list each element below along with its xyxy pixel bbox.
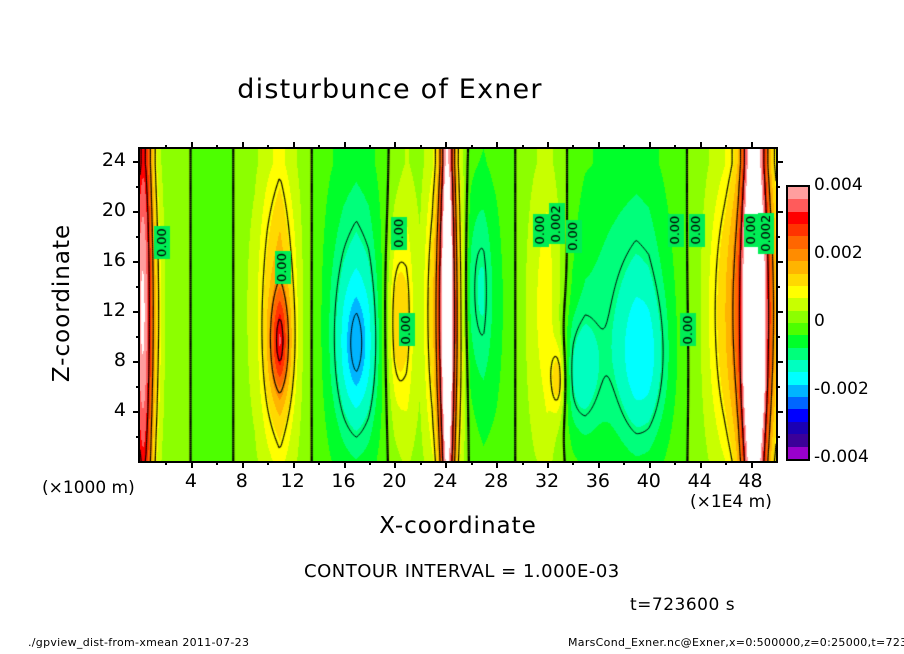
x-tick-top-18 <box>369 145 371 149</box>
y-tick-right-12 <box>776 311 783 313</box>
y-tick-right-10 <box>776 336 780 338</box>
y-tick-label-24: 24 <box>78 149 126 171</box>
y-tick-left-22 <box>136 186 140 188</box>
colorbar-band-19 <box>788 422 808 434</box>
contour-plot-area <box>138 147 778 463</box>
x-tick-bottom-24 <box>445 461 447 468</box>
y-tick-left-6 <box>136 386 140 388</box>
x-tick-bottom-40 <box>649 461 651 468</box>
y-axis-title: Z-coordinate <box>49 203 75 403</box>
y-axis-unit-label: (×1000 m) <box>42 478 135 498</box>
colorbar-band-12 <box>788 335 808 347</box>
colorbar-band-17 <box>788 397 808 409</box>
y-tick-right-18 <box>776 236 780 238</box>
x-tick-top-36 <box>598 142 600 149</box>
y-tick-left-4 <box>133 411 140 413</box>
x-tick-label-48: 48 <box>721 470 781 492</box>
y-tick-left-10 <box>136 336 140 338</box>
x-tick-top-46 <box>725 145 727 149</box>
contour-interval-caption: CONTOUR INTERVAL = 1.000E-03 <box>304 561 620 582</box>
x-tick-bottom-28 <box>496 461 498 468</box>
colorbar-band-5 <box>788 249 808 261</box>
page-title: disturbunce of Exner <box>0 74 780 105</box>
x-tick-top-10 <box>267 145 269 149</box>
y-tick-right-4 <box>776 411 783 413</box>
x-tick-bottom-6 <box>216 461 218 465</box>
x-tick-bottom-18 <box>369 461 371 465</box>
colorbar-tick--0.002: -0.002 <box>814 379 869 399</box>
y-tick-right-20 <box>776 211 783 213</box>
x-tick-bottom-16 <box>344 461 346 468</box>
y-tick-right-8 <box>776 361 783 363</box>
x-tick-bottom-38 <box>623 461 625 465</box>
x-tick-bottom-10 <box>267 461 269 465</box>
y-tick-left-20 <box>133 211 140 213</box>
x-tick-bottom-48 <box>751 461 753 468</box>
x-tick-bottom-46 <box>725 461 727 465</box>
x-tick-bottom-26 <box>471 461 473 465</box>
y-tick-label-12: 12 <box>78 299 126 321</box>
y-tick-left-2 <box>136 436 140 438</box>
time-stamp-caption: t=723600 s <box>630 595 735 615</box>
colorbar-tick-0: 0 <box>814 311 825 331</box>
y-tick-right-22 <box>776 186 780 188</box>
y-tick-label-4: 4 <box>78 399 126 421</box>
x-tick-top-34 <box>572 145 574 149</box>
x-tick-bottom-34 <box>572 461 574 465</box>
x-tick-top-32 <box>547 142 549 149</box>
x-tick-top-6 <box>216 145 218 149</box>
colorbar-band-18 <box>788 409 808 421</box>
contour-field-canvas <box>140 149 776 461</box>
colorbar <box>786 185 810 461</box>
x-tick-top-20 <box>394 142 396 149</box>
y-tick-left-14 <box>136 286 140 288</box>
y-tick-right-6 <box>776 386 780 388</box>
colorbar-band-7 <box>788 274 808 286</box>
colorbar-band-21 <box>788 447 808 459</box>
x-tick-top-12 <box>293 142 295 149</box>
colorbar-band-1 <box>788 199 808 211</box>
y-tick-right-2 <box>776 436 780 438</box>
colorbar-band-14 <box>788 360 808 372</box>
x-tick-bottom-8 <box>242 461 244 468</box>
x-tick-bottom-14 <box>318 461 320 465</box>
footer-command-text: ./gpview_dist-from-xmean 2011-07-23 <box>28 636 249 649</box>
x-tick-top-30 <box>522 145 524 149</box>
x-axis-unit-label: (×1E4 m) <box>690 492 772 512</box>
y-tick-right-24 <box>776 161 783 163</box>
x-tick-top-16 <box>344 142 346 149</box>
colorbar-tick--0.004: -0.004 <box>814 447 869 467</box>
colorbar-band-6 <box>788 261 808 273</box>
y-tick-left-8 <box>133 361 140 363</box>
y-tick-label-20: 20 <box>78 199 126 221</box>
y-tick-left-12 <box>133 311 140 313</box>
x-tick-bottom-44 <box>700 461 702 468</box>
x-tick-top-26 <box>471 145 473 149</box>
x-tick-top-44 <box>700 142 702 149</box>
x-tick-top-14 <box>318 145 320 149</box>
x-tick-top-40 <box>649 142 651 149</box>
x-tick-top-48 <box>751 142 753 149</box>
colorbar-band-13 <box>788 348 808 360</box>
colorbar-band-15 <box>788 372 808 384</box>
footer-source-text: MarsCond_Exner.nc@Exner,x=0:500000,z=0:2… <box>568 636 904 649</box>
x-tick-top-22 <box>420 145 422 149</box>
colorbar-tick-0.004: 0.004 <box>814 175 863 195</box>
x-tick-bottom-32 <box>547 461 549 468</box>
x-tick-bottom-22 <box>420 461 422 465</box>
colorbar-band-20 <box>788 434 808 446</box>
y-tick-label-8: 8 <box>78 349 126 371</box>
colorbar-tick-0.002: 0.002 <box>814 243 863 263</box>
x-tick-bottom-36 <box>598 461 600 468</box>
x-axis-title: X-coordinate <box>138 513 778 539</box>
colorbar-band-4 <box>788 236 808 248</box>
colorbar-band-8 <box>788 286 808 298</box>
x-tick-top-2 <box>165 145 167 149</box>
x-tick-top-4 <box>191 142 193 149</box>
x-tick-bottom-2 <box>165 461 167 465</box>
y-tick-right-16 <box>776 261 783 263</box>
colorbar-band-10 <box>788 311 808 323</box>
x-tick-bottom-42 <box>674 461 676 465</box>
x-tick-bottom-30 <box>522 461 524 465</box>
y-tick-left-24 <box>133 161 140 163</box>
y-tick-left-18 <box>136 236 140 238</box>
y-tick-label-16: 16 <box>78 249 126 271</box>
x-tick-bottom-20 <box>394 461 396 468</box>
colorbar-band-11 <box>788 323 808 335</box>
x-tick-top-42 <box>674 145 676 149</box>
x-tick-top-38 <box>623 145 625 149</box>
colorbar-band-9 <box>788 298 808 310</box>
x-tick-top-28 <box>496 142 498 149</box>
colorbar-band-2 <box>788 212 808 224</box>
y-tick-right-14 <box>776 286 780 288</box>
colorbar-band-3 <box>788 224 808 236</box>
colorbar-band-16 <box>788 385 808 397</box>
x-tick-top-8 <box>242 142 244 149</box>
x-tick-bottom-4 <box>191 461 193 468</box>
colorbar-band-0 <box>788 187 808 199</box>
x-tick-bottom-12 <box>293 461 295 468</box>
y-tick-left-16 <box>133 261 140 263</box>
x-tick-top-24 <box>445 142 447 149</box>
